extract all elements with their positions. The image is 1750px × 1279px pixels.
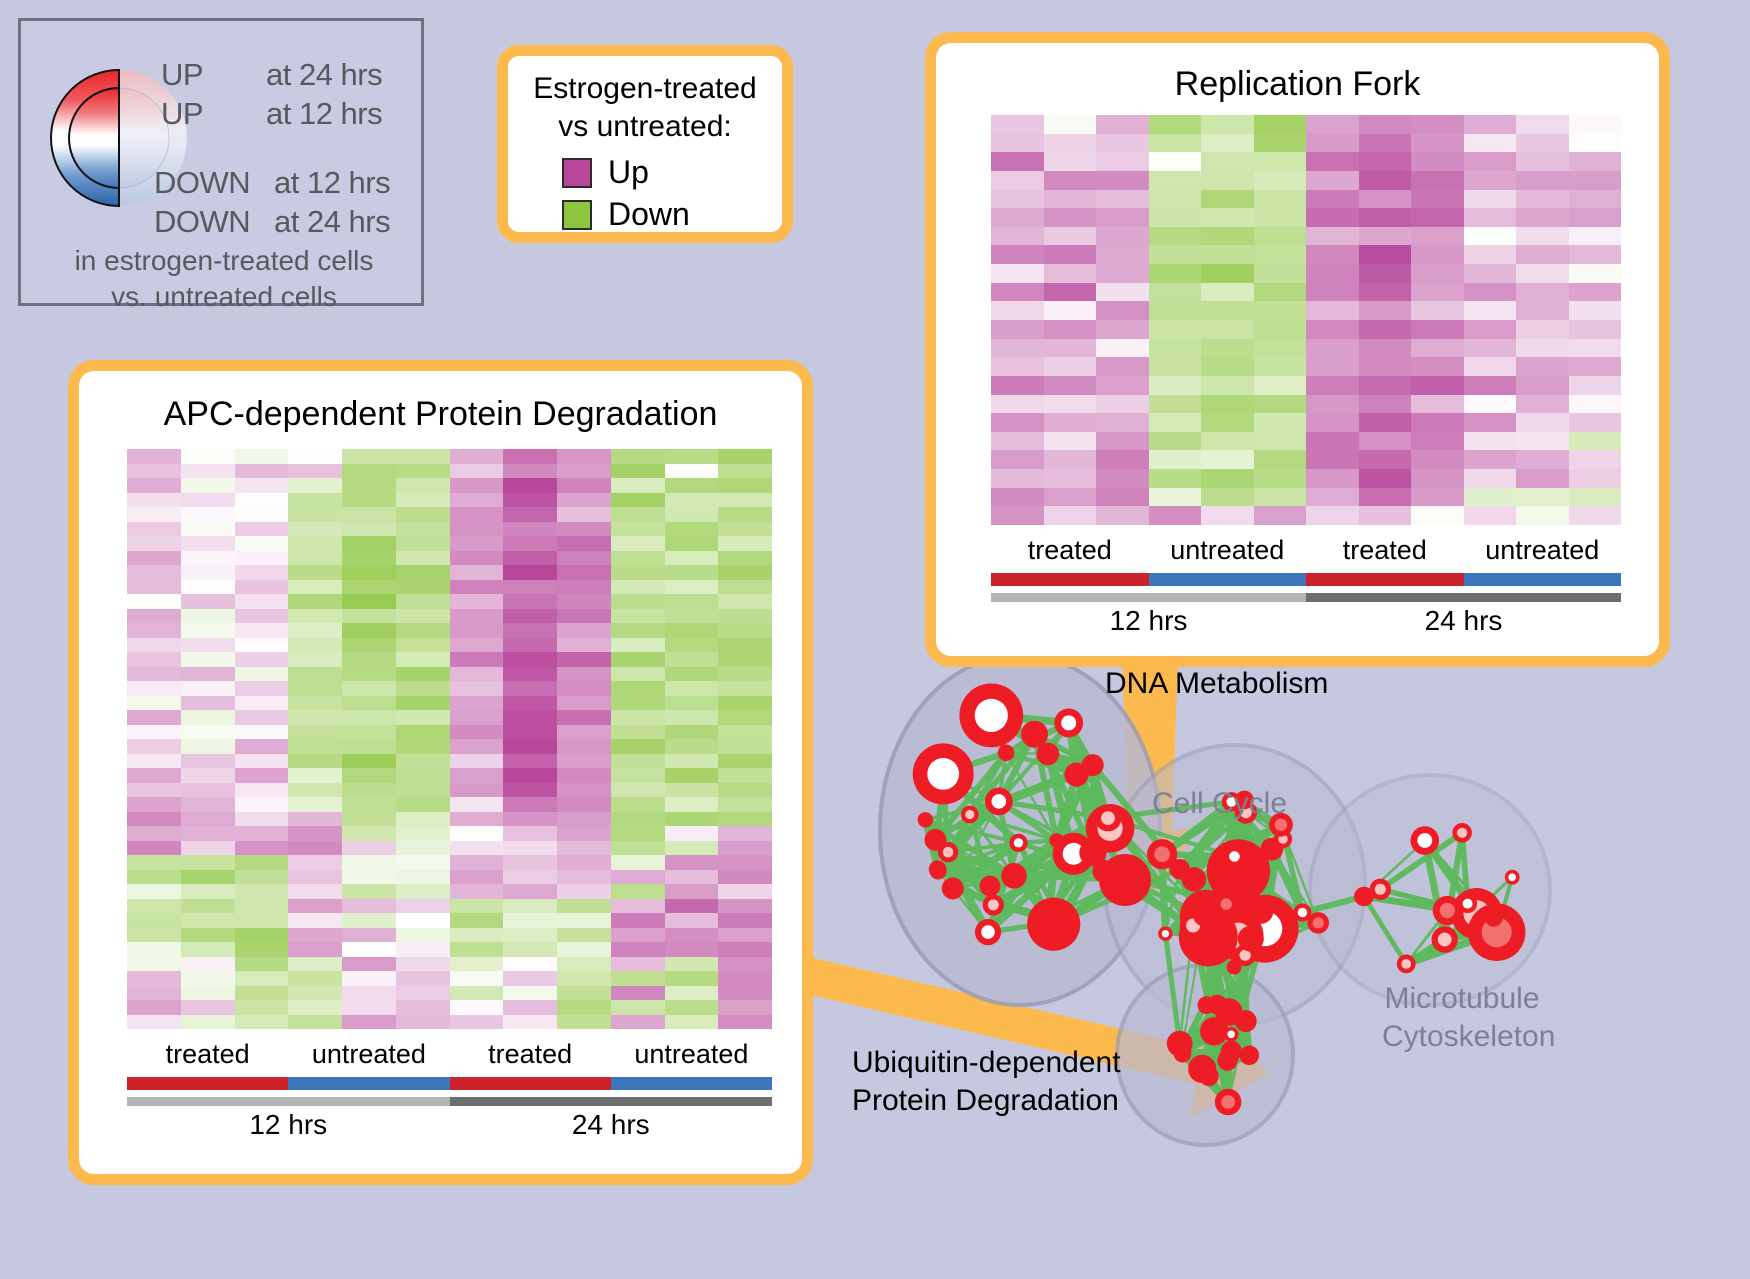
heatmap-cell	[288, 710, 342, 725]
heatmap-cell	[396, 957, 450, 972]
heatmap-cell	[396, 464, 450, 479]
heatmap-cell	[718, 449, 772, 464]
heatmap-cell	[503, 826, 557, 841]
network-node	[1313, 917, 1324, 928]
heatmap-cell	[1569, 395, 1622, 414]
network-node	[1240, 1046, 1260, 1066]
heatmap-cell	[235, 536, 289, 551]
heatmap-cell	[288, 1015, 342, 1030]
heatmap-cell	[1359, 264, 1412, 283]
heatmap-cell	[1306, 264, 1359, 283]
heatmap-cell	[1254, 413, 1307, 432]
heatmap-cell	[557, 623, 611, 638]
heatmap-cell	[1306, 227, 1359, 246]
heatmap-cell	[127, 638, 181, 653]
heatmap-cell	[503, 522, 557, 537]
heatmap-cell	[342, 768, 396, 783]
heatmap-cell	[342, 449, 396, 464]
heatmap-cell	[1096, 432, 1149, 451]
heatmap-cell	[1569, 208, 1622, 227]
apc-time-bar	[127, 1097, 772, 1106]
heatmap-cell	[611, 855, 665, 870]
heatmap-cell	[503, 710, 557, 725]
heatmap-cell	[342, 507, 396, 522]
heatmap-cell	[450, 710, 504, 725]
heatmap-cell	[503, 565, 557, 580]
heatmap-cell	[450, 783, 504, 798]
heatmap-cell	[1359, 432, 1412, 451]
heatmap-cell	[557, 1000, 611, 1015]
heatmap-cell	[1516, 171, 1569, 190]
heatmap-cell	[181, 986, 235, 1001]
heatmap-cell	[611, 565, 665, 580]
heatmap-cell	[1464, 320, 1517, 339]
heatmap-cell	[1411, 152, 1464, 171]
heatmap-cell	[342, 855, 396, 870]
heatmap-cell	[288, 797, 342, 812]
heatmap-cell	[991, 395, 1044, 414]
heatmap-cell	[342, 870, 396, 885]
heatmap-cell	[1569, 339, 1622, 358]
heatmap-cell	[1411, 134, 1464, 153]
heatmap-cell	[1201, 301, 1254, 320]
heatmap-cell	[557, 652, 611, 667]
heatmap-cell	[1096, 357, 1149, 376]
heatmap-cell	[235, 884, 289, 899]
heatmap-cell	[1306, 506, 1359, 525]
heatmap-cell	[127, 522, 181, 537]
microtubule-line1: Microtubule	[1382, 980, 1542, 1018]
network-node	[1219, 1048, 1239, 1068]
heatmap-cell	[450, 522, 504, 537]
heatmap-cell	[665, 638, 719, 653]
heatmap-cell	[611, 841, 665, 856]
heatmap-cell	[611, 725, 665, 740]
heatmap-cell	[1516, 357, 1569, 376]
network-node	[1198, 996, 1216, 1014]
heatmap-cell	[991, 264, 1044, 283]
heatmap-cell	[1254, 506, 1307, 525]
heatmap-cell	[718, 565, 772, 580]
heatmap-cell	[1569, 115, 1622, 134]
heatmap-cell	[450, 797, 504, 812]
heatmap-cell	[991, 376, 1044, 395]
heatmap-cell	[235, 1000, 289, 1015]
heatmap-cell	[181, 899, 235, 914]
heatmap-cell	[396, 681, 450, 696]
heatmap-cell	[1306, 115, 1359, 134]
heatmap-cell	[127, 623, 181, 638]
heatmap-cell	[665, 1015, 719, 1030]
heatmap-cell	[503, 478, 557, 493]
heatmap-cell	[127, 696, 181, 711]
heatmap-cell	[181, 739, 235, 754]
heatmap-cell	[1411, 264, 1464, 283]
heatmap-cell	[665, 739, 719, 754]
network-node	[1508, 873, 1516, 881]
heatmap-cell	[718, 551, 772, 566]
heatmap-cell	[235, 493, 289, 508]
heatmap-cell	[665, 449, 719, 464]
heatmap-cell	[396, 710, 450, 725]
heatmap-cell	[611, 783, 665, 798]
heatmap-cell	[1254, 432, 1307, 451]
network-node	[1298, 908, 1307, 917]
heatmap-cell	[342, 739, 396, 754]
heatmap-cell	[503, 971, 557, 986]
heatmap-cell	[235, 797, 289, 812]
heatmap-cell	[1359, 450, 1412, 469]
heatmap-cell	[1254, 339, 1307, 358]
heatmap-cell	[665, 522, 719, 537]
heatmap-cell	[665, 942, 719, 957]
heatmap-cell	[288, 522, 342, 537]
heatmap-cell	[396, 783, 450, 798]
heatmap-cell	[127, 449, 181, 464]
heatmap-cell	[1464, 339, 1517, 358]
heatmap-cell	[1464, 506, 1517, 525]
heatmap-cell	[396, 623, 450, 638]
heatmap-cell	[1516, 469, 1569, 488]
heatmap-cell	[1149, 245, 1202, 264]
heatmap-cell	[557, 899, 611, 914]
heatmap-cell	[396, 812, 450, 827]
heatmap-cell	[1411, 357, 1464, 376]
heatmap-cell	[503, 652, 557, 667]
heatmap-cell	[1201, 413, 1254, 432]
heatmap-cell	[181, 783, 235, 798]
heatmap-cell	[1411, 208, 1464, 227]
heatmap-cell	[1464, 171, 1517, 190]
heatmap-cell	[450, 638, 504, 653]
heatmap-cell	[503, 696, 557, 711]
heatmap-cell	[396, 565, 450, 580]
heatmap-cell	[1044, 450, 1097, 469]
heatmap-cell	[557, 638, 611, 653]
heatmap-cell	[718, 652, 772, 667]
heatmap-cell	[718, 507, 772, 522]
network-label-cell-cycle: Cell Cycle	[1152, 785, 1287, 823]
heatmap-cell	[1149, 283, 1202, 302]
heatmap-cell	[1254, 450, 1307, 469]
heatmap-cell	[1096, 450, 1149, 469]
heatmap-cell	[991, 245, 1044, 264]
heatmap-cell	[396, 667, 450, 682]
heatmap-cell	[396, 797, 450, 812]
heatmap-cell	[235, 913, 289, 928]
heatmap-cell	[1516, 208, 1569, 227]
network-node	[981, 925, 995, 939]
heatmap-cell	[1254, 264, 1307, 283]
heatmap-cell	[1464, 264, 1517, 283]
heatmap-cell	[181, 536, 235, 551]
heatmap-cell	[665, 536, 719, 551]
heatmap-cell	[1411, 339, 1464, 358]
heatmap-cell	[342, 971, 396, 986]
heatmap-cell	[1306, 152, 1359, 171]
heatmap-cell	[611, 870, 665, 885]
heatmap-cell	[342, 522, 396, 537]
heatmap-cell	[288, 986, 342, 1001]
heatmap-cell	[235, 667, 289, 682]
heatmap-cell	[1464, 395, 1517, 414]
heatmap-cell	[288, 725, 342, 740]
heatmap-cell	[1201, 506, 1254, 525]
heatmap-cell	[1569, 432, 1622, 451]
heatmap-cell	[181, 464, 235, 479]
heatmap-cell	[665, 783, 719, 798]
heatmap-cell	[718, 725, 772, 740]
heatmap-cell	[1044, 190, 1097, 209]
heatmap-cell	[1044, 357, 1097, 376]
heatmap-cell	[235, 783, 289, 798]
heatmap-cell	[611, 681, 665, 696]
heatmap-cell	[181, 609, 235, 624]
heatmap-cell	[1516, 432, 1569, 451]
heatmap-cell	[665, 623, 719, 638]
network-node	[1001, 863, 1027, 889]
heatmap-cell	[288, 565, 342, 580]
heatmap-cell	[718, 638, 772, 653]
heatmap-cell	[1464, 245, 1517, 264]
heatmap-cell	[503, 739, 557, 754]
heatmap-cell	[557, 797, 611, 812]
heatmap-cell	[127, 551, 181, 566]
network-node	[965, 810, 974, 819]
heatmap-cell	[450, 478, 504, 493]
heatmap-cell	[718, 884, 772, 899]
heatmap-cell	[396, 739, 450, 754]
heatmap-cell	[1096, 115, 1149, 134]
heatmap-cell	[503, 507, 557, 522]
heatmap-cell	[1044, 395, 1097, 414]
heatmap-cell	[181, 594, 235, 609]
heatmap-cell	[127, 725, 181, 740]
heatmap-cell	[991, 450, 1044, 469]
heatmap-cell	[503, 464, 557, 479]
heatmap-cell	[611, 899, 665, 914]
apc-cond-bar-treated-24	[450, 1077, 611, 1090]
heatmap-cell	[396, 768, 450, 783]
heatmap-cell	[1359, 339, 1412, 358]
heatmap-cell	[1096, 227, 1149, 246]
heatmap-cell	[342, 478, 396, 493]
heatmap-cell	[991, 152, 1044, 171]
heatmap-cell	[611, 652, 665, 667]
heatmap-cell	[557, 493, 611, 508]
heatmap-cell	[718, 681, 772, 696]
heatmap-cell	[718, 754, 772, 769]
heatmap-cell	[1044, 208, 1097, 227]
heatmap-cell	[718, 971, 772, 986]
heatmap-cell	[1569, 190, 1622, 209]
network-node	[942, 877, 964, 899]
heatmap-cell	[127, 536, 181, 551]
heatmap-cell	[1411, 469, 1464, 488]
heatmap-cell	[1306, 320, 1359, 339]
heatmap-cell	[127, 681, 181, 696]
heatmap-cell	[450, 1015, 504, 1030]
network-node	[1440, 903, 1455, 918]
heatmap-cell	[1306, 413, 1359, 432]
heatmap-cell	[396, 725, 450, 740]
replication-fork-time-labels: 12 hrs 24 hrs	[991, 605, 1621, 637]
cluster-halo-microtubule	[1310, 775, 1550, 1005]
heatmap-cell	[1096, 283, 1149, 302]
heatmap-cell	[557, 725, 611, 740]
time-bar-12hrs	[991, 593, 1306, 602]
cond-bar-treated-24	[1306, 573, 1464, 586]
heatmap-cell	[611, 507, 665, 522]
heatmap-cell	[1149, 469, 1202, 488]
heatmap-cell	[557, 565, 611, 580]
heatmap-cell	[1254, 283, 1307, 302]
heatmap-cell	[718, 855, 772, 870]
heatmap-cell	[665, 609, 719, 624]
heatmap-cell	[557, 928, 611, 943]
cond-bar-treated-12	[991, 573, 1149, 586]
heatmap-cell	[557, 696, 611, 711]
heatmap-cell	[718, 957, 772, 972]
heatmap-cell	[181, 928, 235, 943]
heatmap-cell	[235, 507, 289, 522]
heatmap-cell	[181, 942, 235, 957]
heatmap-cell	[1096, 395, 1149, 414]
heatmap-cell	[665, 841, 719, 856]
heatmap-cell	[991, 488, 1044, 507]
heatmap-cell	[288, 870, 342, 885]
heatmap-cell	[503, 1000, 557, 1015]
heatmap-cell	[1516, 395, 1569, 414]
network-node	[1401, 959, 1411, 969]
heatmap-cell	[1411, 413, 1464, 432]
heatmap-cell	[181, 493, 235, 508]
heatmap-cell	[1516, 450, 1569, 469]
heatmap-cell	[1149, 115, 1202, 134]
apc-time-labels: 12 hrs 24 hrs	[127, 1109, 772, 1141]
heatmap-cell	[1464, 432, 1517, 451]
heatmap-cell	[503, 623, 557, 638]
heatmap-cell	[1464, 115, 1517, 134]
heatmap-cell	[1359, 395, 1412, 414]
heatmap-cell	[450, 551, 504, 566]
heatmap-cell	[1464, 152, 1517, 171]
heatmap-cell	[450, 826, 504, 841]
heatmap-cell	[611, 1015, 665, 1030]
heatmap-cell	[1149, 339, 1202, 358]
heatmap-cell	[235, 681, 289, 696]
heatmap-cell	[718, 986, 772, 1001]
heatmap-cell	[235, 478, 289, 493]
heatmap-cell	[450, 507, 504, 522]
heatmap-cell	[288, 855, 342, 870]
apc-group-label-treated-24: treated	[450, 1039, 611, 1070]
network-node	[998, 745, 1015, 762]
heatmap-cell	[450, 580, 504, 595]
heatmap-cell	[127, 971, 181, 986]
heatmap-cell	[557, 826, 611, 841]
figure-canvas: UP at 24 hrs UP at 12 hrs DOWN at 12 hrs…	[0, 0, 1750, 1279]
heatmap-cell	[450, 464, 504, 479]
heatmap-cell	[1306, 339, 1359, 358]
heatmap-cell	[557, 449, 611, 464]
heatmap-cell	[611, 623, 665, 638]
heatmap-cell	[127, 783, 181, 798]
apc-cond-bar-untreated-12	[288, 1077, 449, 1090]
heatmap-cell	[1044, 488, 1097, 507]
heatmap-cell	[450, 768, 504, 783]
heatmap-cell	[1516, 506, 1569, 525]
heatmap-cell	[127, 493, 181, 508]
heatmap-cell	[127, 478, 181, 493]
heatmap-cell	[1201, 357, 1254, 376]
heatmap-cell	[235, 768, 289, 783]
heatmap-cell	[181, 754, 235, 769]
heatmap-cell	[181, 652, 235, 667]
heatmap-cell	[342, 609, 396, 624]
heatmap-cell	[991, 339, 1044, 358]
apc-cond-bar-treated-12	[127, 1077, 288, 1090]
heatmap-cell	[396, 855, 450, 870]
heatmap-cell	[396, 913, 450, 928]
heatmap-cell	[1359, 171, 1412, 190]
heatmap-cell	[1306, 469, 1359, 488]
heatmap-cell	[1201, 320, 1254, 339]
heatmap-cell	[718, 1000, 772, 1015]
heatmap-cell	[1254, 152, 1307, 171]
heatmap-cell	[396, 971, 450, 986]
heatmap-cell	[1254, 320, 1307, 339]
network-node	[943, 847, 954, 858]
heatmap-cell	[991, 413, 1044, 432]
heatmap-cell	[342, 623, 396, 638]
heatmap-cell	[235, 638, 289, 653]
heatmap-cell	[235, 957, 289, 972]
heatmap-cell	[557, 710, 611, 725]
heatmap-cell	[557, 754, 611, 769]
heatmap-cell	[718, 464, 772, 479]
network-node	[1101, 811, 1115, 825]
heatmap-cell	[181, 551, 235, 566]
heatmap-cell	[1044, 283, 1097, 302]
heatmap-cell	[665, 913, 719, 928]
heatmap-cell	[1464, 488, 1517, 507]
heatmap-cell	[611, 942, 665, 957]
heatmap-cell	[288, 681, 342, 696]
network-node	[1037, 906, 1060, 929]
heatmap-cell	[235, 623, 289, 638]
heatmap-cell	[450, 870, 504, 885]
heatmap-cell	[1254, 469, 1307, 488]
heatmap-cell	[288, 638, 342, 653]
heatmap-cell	[396, 551, 450, 566]
heatmap-cell	[1201, 339, 1254, 358]
heatmap-cell	[1096, 301, 1149, 320]
heatmap-cell	[450, 1000, 504, 1015]
heatmap-cell	[396, 928, 450, 943]
heatmap-cell	[181, 957, 235, 972]
heatmap-cell	[235, 565, 289, 580]
heatmap-cell	[557, 870, 611, 885]
heatmap-cell	[1359, 283, 1412, 302]
heatmap-cell	[288, 826, 342, 841]
heatmap-cell	[1044, 469, 1097, 488]
heatmap-cell	[1359, 506, 1412, 525]
heatmap-cell	[1254, 357, 1307, 376]
heatmap-cell	[1516, 376, 1569, 395]
heatmap-cell	[503, 928, 557, 943]
heatmap-cell	[1569, 357, 1622, 376]
